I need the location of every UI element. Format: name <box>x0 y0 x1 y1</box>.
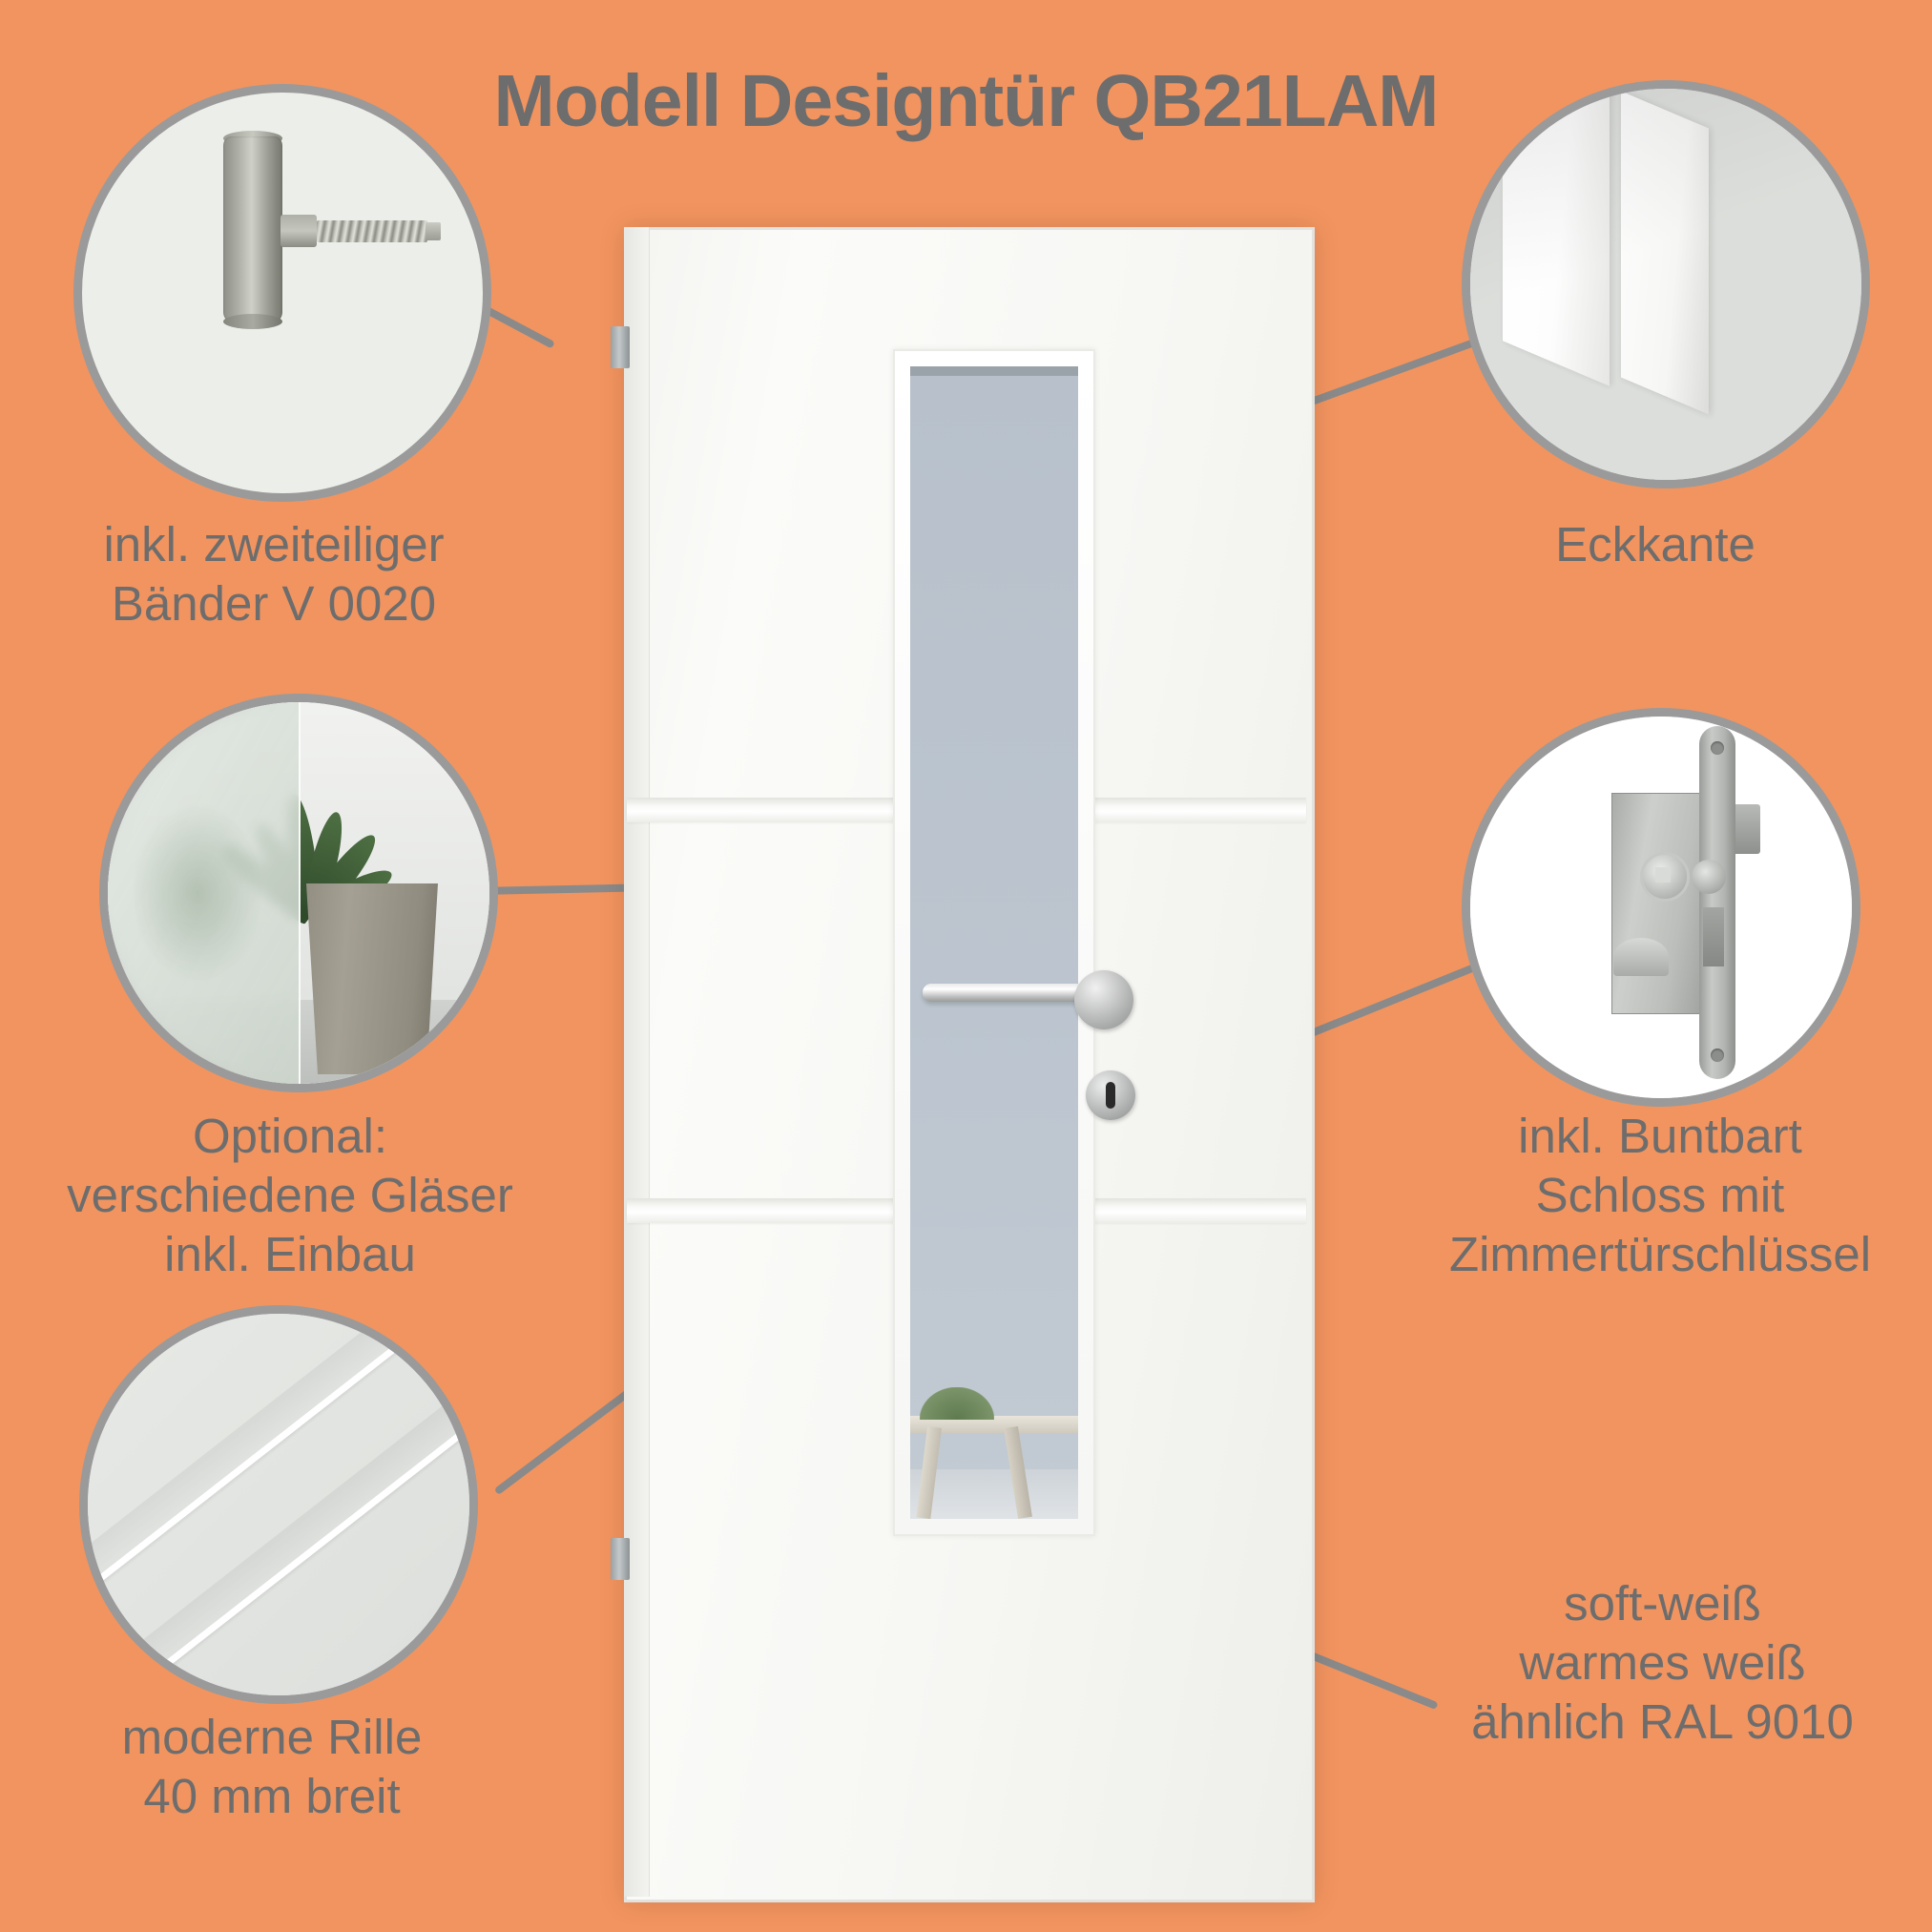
infographic-canvas: Modell Designtür QB21LAM <box>0 0 1932 1932</box>
callout-circle-edge <box>1462 80 1870 488</box>
callout-circle-groove <box>79 1305 478 1704</box>
callout-caption-hinges: inkl. zweiteiliger Bänder V 0020 <box>21 515 527 634</box>
door-handle-rosette <box>1074 970 1133 1029</box>
glass-panel <box>910 366 1078 1519</box>
hinge-neck-icon <box>280 215 317 247</box>
lock-dead-bolt <box>1613 938 1669 976</box>
door-keyhole <box>1086 1070 1135 1120</box>
lock-faceplate <box>1699 726 1735 1079</box>
glass-reflection-plant <box>920 1387 994 1420</box>
glass-top-bar <box>910 366 1078 376</box>
lock-spindle-hole <box>1640 852 1690 902</box>
callout-caption-edge: Eckkante <box>1412 515 1899 574</box>
callout-caption-glass: Optional: verschiedene Gläser inkl. Einb… <box>13 1107 567 1285</box>
lock-screw-hole-bottom <box>1711 1049 1724 1062</box>
callout-caption-groove: moderne Rille 40 mm breit <box>29 1708 515 1826</box>
lock-screw-hole-top <box>1711 741 1724 755</box>
door-hinge-bottom <box>611 1538 630 1580</box>
door-edge <box>624 227 650 1897</box>
door-image <box>624 227 1309 1897</box>
hinge-pin-icon <box>223 136 282 322</box>
callout-circle-lock <box>1462 708 1860 1107</box>
callout-caption-color: soft-weiß warmes weiß ähnlich RAL 9010 <box>1402 1574 1922 1753</box>
glass-panel-frame <box>893 349 1095 1536</box>
hinge-screw-tip-icon <box>426 222 441 240</box>
callout-circle-hinges <box>73 84 491 502</box>
edge-shadow <box>1470 89 1861 480</box>
door-handle-lever <box>923 984 1091 1002</box>
mortise-lock-icon <box>1470 717 1852 1098</box>
door-hinge-top <box>611 326 630 368</box>
hinge-cap-bottom-icon <box>223 314 282 329</box>
corner-edge-icon <box>1470 89 1861 480</box>
callout-circle-glass <box>99 694 498 1092</box>
lock-case <box>1611 793 1713 1014</box>
lock-cylinder-hole <box>1692 860 1726 894</box>
frosted-glass-overlay <box>108 702 301 1084</box>
callout-caption-lock: inkl. Buntbart Schloss mit Zimmertürschl… <box>1388 1107 1932 1285</box>
plant-pot <box>295 883 438 1074</box>
hinge-screw-thread-icon <box>317 220 427 242</box>
door-groove-icon <box>88 1314 469 1695</box>
lock-faceplate-strip <box>1703 907 1724 966</box>
frosted-glass-plant-icon <box>108 702 489 1084</box>
